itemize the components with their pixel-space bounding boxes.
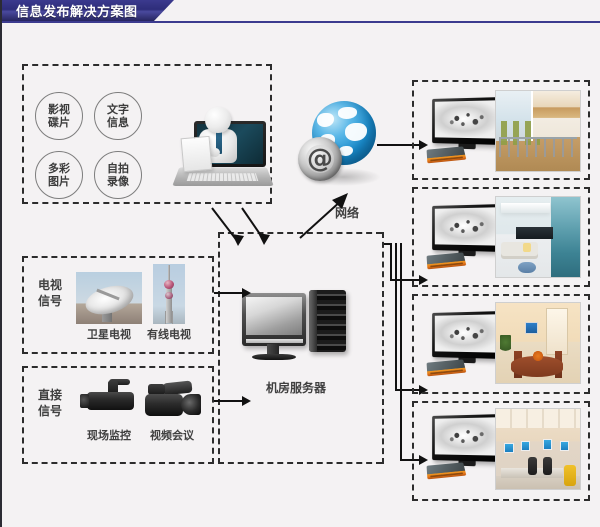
onsite-monitor-caption: 现场监控 xyxy=(73,428,145,443)
bus-line-1 xyxy=(390,243,392,281)
cable-tv-caption: 有线电视 xyxy=(133,327,205,342)
bubble-line1: 自拍 xyxy=(107,162,129,175)
server-label: 机房服务器 xyxy=(251,381,341,396)
bubble-line1: 文字 xyxy=(107,103,129,116)
title-banner-tail xyxy=(154,0,174,21)
server-monitor xyxy=(242,293,306,346)
bus-line-2 xyxy=(395,243,397,391)
bubble-line1: 多彩 xyxy=(48,162,70,175)
bubble-line2: 碟片 xyxy=(48,116,70,129)
direct-signal-label: 直接信号 xyxy=(30,387,70,419)
warm-dining-room-photo xyxy=(495,302,581,384)
server-to-network-arrow xyxy=(298,188,354,240)
bubble-line1: 影视 xyxy=(48,103,70,116)
laptop-keyboard xyxy=(186,173,257,181)
server-area-box-top-extension xyxy=(382,232,384,464)
camcorder-icon xyxy=(141,378,203,424)
tv-signal-label: 电视信号 xyxy=(30,277,70,309)
diagram-page: 信息发布解决方案图 影视 碟片 文字 信息 多彩 图片 自拍 录像 电视信号 xyxy=(0,0,600,527)
satellite-dish-icon xyxy=(76,272,142,324)
page-title: 信息发布解决方案图 xyxy=(16,1,138,20)
media-to-server-arrows xyxy=(208,206,278,254)
title-underline xyxy=(2,21,600,23)
server-tower xyxy=(309,290,346,352)
person-with-laptop-icon xyxy=(174,95,272,195)
direct-signal-arrowhead xyxy=(242,396,251,406)
monitor-foot xyxy=(252,354,296,360)
page-title-banner: 信息发布解决方案图 xyxy=(2,0,154,21)
bubble-text-info: 文字 信息 xyxy=(94,92,142,140)
bubble-self-recording: 自拍 录像 xyxy=(94,151,142,199)
server-computer-icon xyxy=(242,288,346,368)
bubble-line2: 图片 xyxy=(48,175,70,188)
tv-tower-icon xyxy=(153,264,185,324)
modern-living-room-photo xyxy=(495,196,581,278)
bubble-video-disc: 影视 碟片 xyxy=(35,92,83,140)
video-conference-caption: 视频会议 xyxy=(136,428,208,443)
security-camera-icon xyxy=(78,378,140,422)
tv-signal-arrowhead xyxy=(242,288,251,298)
figure-document xyxy=(180,136,212,172)
office-workstations-photo xyxy=(495,408,581,490)
bubble-line2: 录像 xyxy=(107,175,129,188)
figure-head xyxy=(205,107,230,133)
bus-line-3 xyxy=(400,243,402,461)
at-sign-icon: @ xyxy=(298,137,342,181)
dining-kitchen-room-photo xyxy=(495,90,581,172)
bubble-line2: 信息 xyxy=(107,116,129,129)
bubble-colorful-pictures: 多彩 图片 xyxy=(35,151,83,199)
